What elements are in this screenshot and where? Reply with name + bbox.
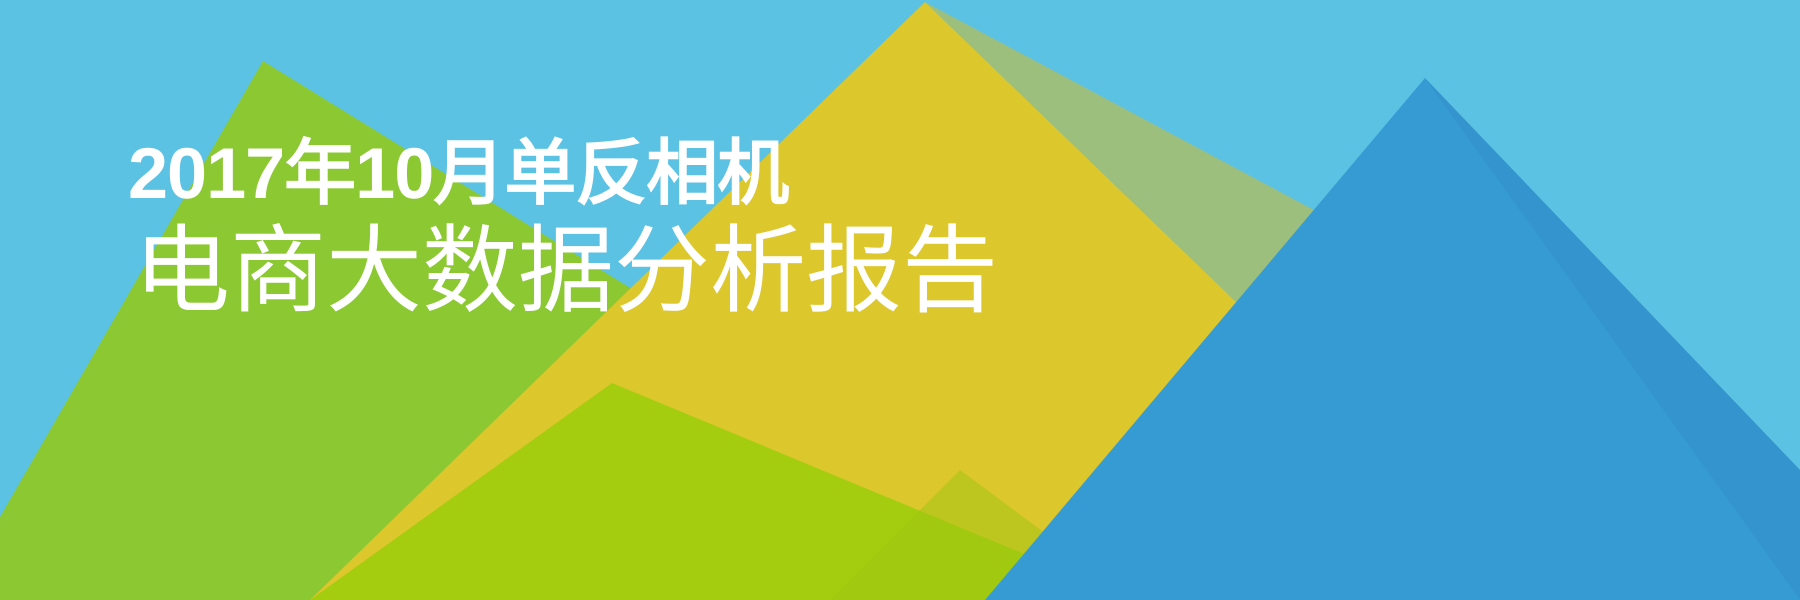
report-cover-banner: 2017年10月单反相机 电商大数据分析报告: [0, 0, 1800, 600]
background-geometry: [0, 0, 1800, 600]
